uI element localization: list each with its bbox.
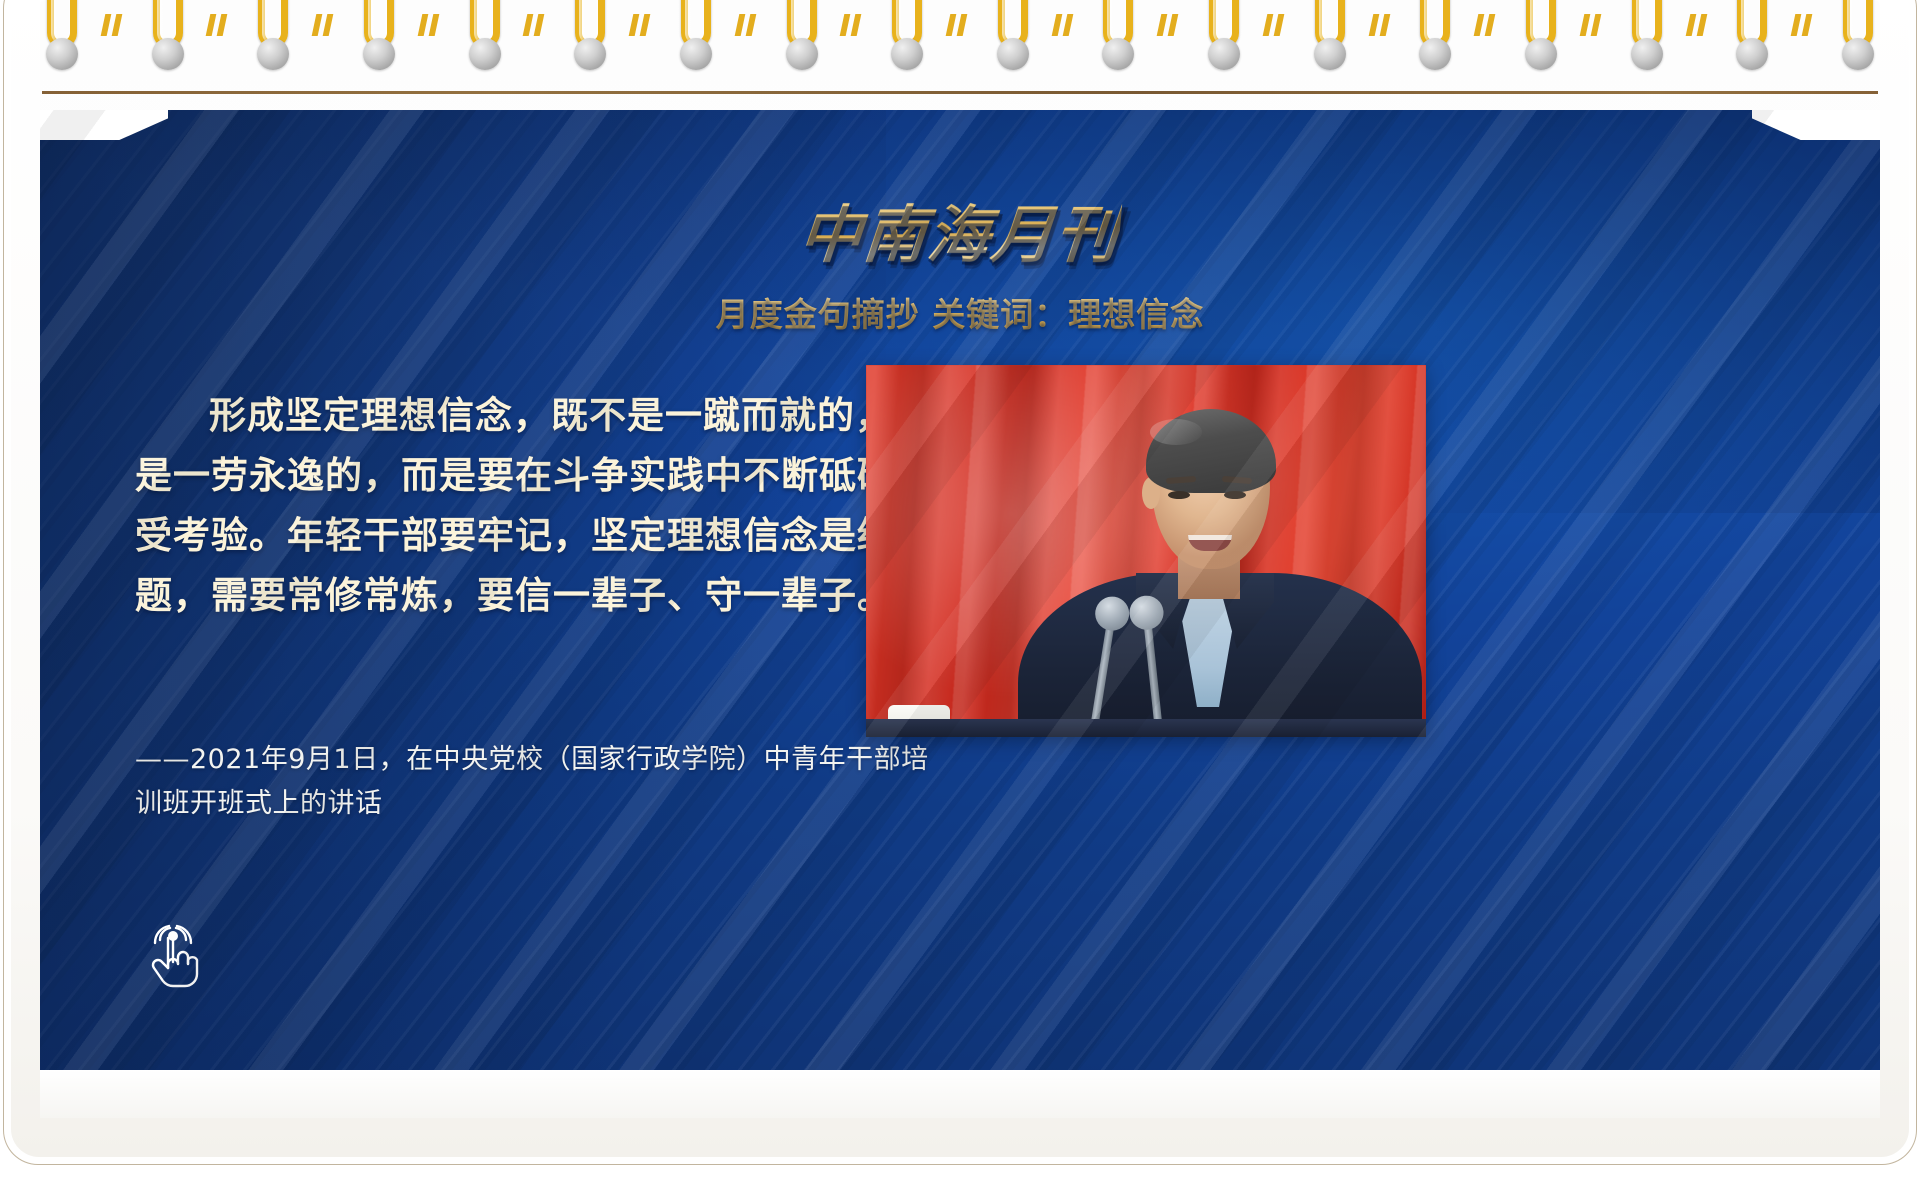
tap-hand-icon[interactable] [142,914,204,988]
subtitle: 月度金句摘抄 关键词：理想信念 [40,288,1880,336]
quote-block: 形成坚定理想信念，既不是一蹴而就的，也不是一劳永逸的，而是要在斗争实践中不断砥砺… [135,386,990,626]
figure [866,365,1426,737]
title-wrap: 中南海月刊 [40,184,1880,274]
page-root: 中南海月刊 月度金句摘抄 关键词：理想信念 形成坚定理想信念，既不是一蹴而就的，… [0,0,1920,1180]
desk-edge [866,719,1426,737]
corner-notch-top-left [40,110,168,140]
figure-eye-left [1168,491,1190,499]
figure-eye-right [1224,491,1246,499]
leader-photo [866,365,1426,737]
slide-panel: 中南海月刊 月度金句摘抄 关键词：理想信念 形成坚定理想信念，既不是一蹴而就的，… [40,110,1880,1070]
corner-notch-top-right [1752,110,1880,140]
binding-rule [42,91,1878,94]
quote-attribution: ——2021年9月1日，在中央党校（国家行政学院）中青年干部培训班开班式上的讲话 [135,738,955,825]
quote-text: 形成坚定理想信念，既不是一蹴而就的，也不是一劳永逸的，而是要在斗争实践中不断砥砺… [135,386,990,626]
publication-title: 中南海月刊 [796,184,1124,274]
